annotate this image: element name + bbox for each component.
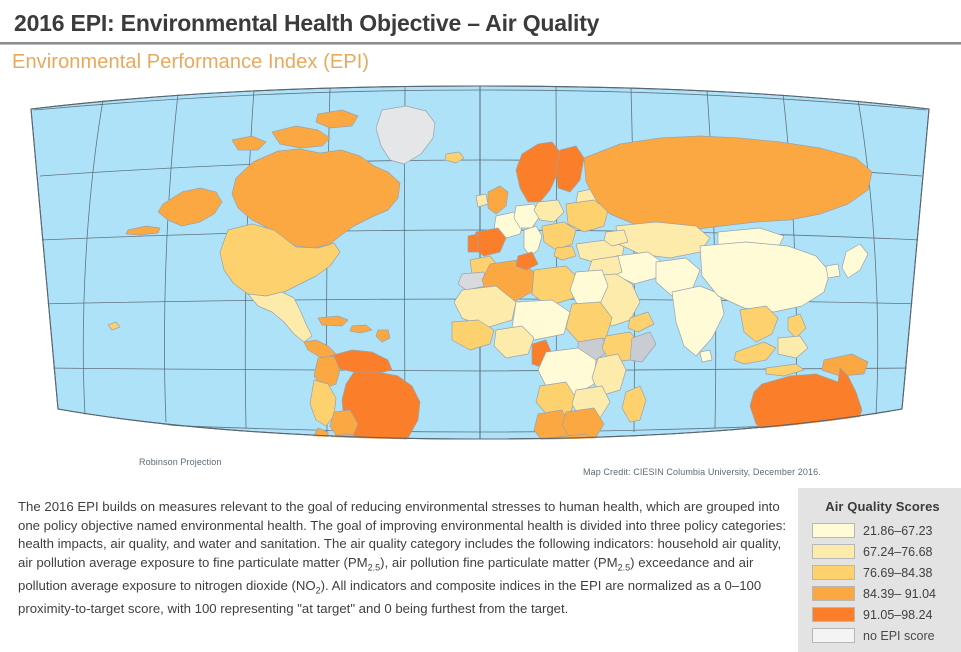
legend-swatch-icon	[812, 628, 855, 643]
legend-item-label: 91.05–98.24	[855, 608, 933, 622]
region-brazil	[342, 372, 420, 458]
map-credit: Map Credit: CIESIN Columbia University, …	[583, 467, 821, 477]
legend-swatch-icon	[812, 544, 855, 559]
world-map[interactable]: Robinson Projection Map Credit: CIESIN C…	[0, 80, 961, 485]
legend-swatch-icon	[812, 586, 855, 601]
header: 2016 EPI: Environmental Health Objective…	[0, 0, 961, 74]
region-korea	[826, 264, 840, 278]
map-poster: 2016 EPI: Environmental Health Objective…	[0, 0, 961, 652]
legend-item[interactable]: 21.86–67.23	[798, 520, 961, 541]
projection-label: Robinson Projection	[139, 457, 221, 467]
legend-item-label: 21.86–67.23	[855, 524, 933, 538]
region-new-zealand-south	[868, 430, 890, 452]
legend-title: Air Quality Scores	[798, 496, 961, 520]
region-sri-lanka	[700, 350, 712, 362]
description-sub-2: 2.5	[618, 562, 631, 572]
legend-item-label: 76.69–84.38	[855, 566, 933, 580]
description-text-2: ), air pollution fine particulate matter…	[380, 555, 617, 570]
page-title: 2016 EPI: Environmental Health Objective…	[0, 0, 961, 41]
legend-panel: Air Quality Scores 21.86–67.23 67.24–76.…	[798, 488, 961, 652]
legend-swatch-icon	[812, 607, 855, 622]
legend-swatch-icon	[812, 565, 855, 580]
region-tasmania	[812, 448, 828, 460]
legend-item[interactable]: 67.24–76.68	[798, 541, 961, 562]
legend-item-label: no EPI score	[855, 629, 935, 643]
legend-swatch-icon	[812, 523, 855, 538]
world-map-svg	[0, 80, 961, 485]
region-new-zealand-north	[884, 416, 902, 434]
legend-item[interactable]: 76.69–84.38	[798, 562, 961, 583]
legend-item-no-data[interactable]: no EPI score	[798, 625, 961, 646]
description-sub-1: 2.5	[368, 562, 381, 572]
legend-item-label: 67.24–76.68	[855, 545, 933, 559]
region-argentina	[326, 434, 366, 485]
description-paragraph: The 2016 EPI builds on measures relevant…	[18, 498, 786, 619]
legend-item-label: 84.39– 91.04	[855, 587, 936, 601]
page-subtitle: Environmental Performance Index (EPI)	[0, 45, 961, 74]
legend-item[interactable]: 91.05–98.24	[798, 604, 961, 625]
legend-item[interactable]: 84.39– 91.04	[798, 583, 961, 604]
region-portugal	[468, 234, 478, 252]
